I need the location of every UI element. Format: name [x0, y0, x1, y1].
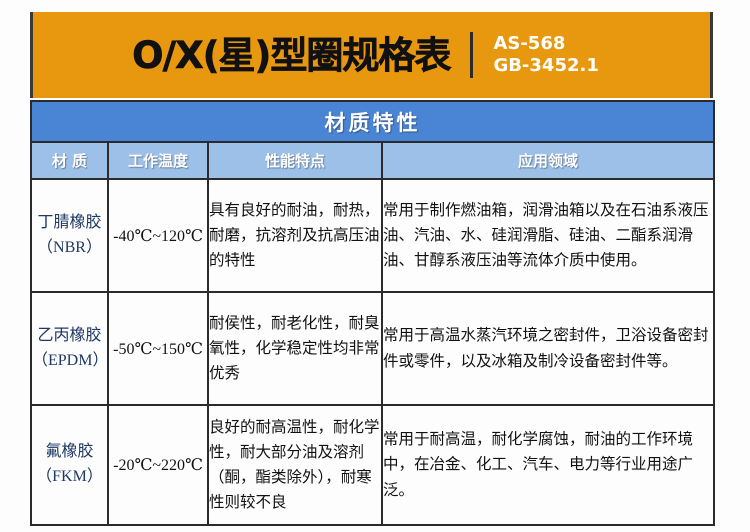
table-section-header-row: 材质特性 — [31, 101, 714, 142]
column-header-performance: 性能特点 — [208, 142, 382, 179]
title-banner-content: O/X(星)型圈规格表 AS-568 GB-3452.1 — [132, 32, 599, 78]
cell-temperature: -50℃~150℃ — [108, 292, 208, 405]
material-name: 氟橡胶 — [45, 443, 93, 460]
material-abbr: （EPDM） — [32, 349, 107, 374]
cell-application: 常用于高温水蒸汽环境之密封件，卫浴设备密封件或零件，以及冰箱及制冷设备密封件等。 — [382, 292, 714, 405]
table-row: 氟橡胶 （FKM） -20℃~220℃ 良好的耐高温性，耐化学性，耐大部分油及溶… — [31, 405, 714, 525]
page-title: O/X(星)型圈规格表 — [132, 37, 450, 74]
cell-material: 丁腈橡胶 （NBR） — [31, 179, 108, 292]
cell-material: 氟橡胶 （FKM） — [31, 405, 108, 525]
column-header-material: 材 质 — [31, 142, 108, 179]
cell-application: 常用于制作燃油箱，润滑油箱以及在石油系液压油、汽油、水、硅润滑脂、硅油、二酯系润… — [382, 179, 714, 292]
material-name: 丁腈橡胶 — [37, 214, 101, 231]
material-properties-table: 材质特性 材 质 工作温度 性能特点 应用领域 丁腈橡胶 （NBR） -40℃~… — [30, 100, 715, 526]
cell-material: 乙丙橡胶 （EPDM） — [31, 292, 108, 405]
standards-block: AS-568 GB-3452.1 — [493, 34, 598, 76]
cell-temperature: -20℃~220℃ — [108, 405, 208, 525]
spec-sheet-page: O/X(星)型圈规格表 AS-568 GB-3452.1 材质特性 材 质 — [0, 0, 750, 532]
title-divider — [470, 32, 473, 78]
cell-performance: 良好的耐高温性，耐化学性，耐大部分油及溶剂（酮，酯类除外），耐寒性则较不良 — [208, 405, 382, 525]
section-title: 材质特性 — [31, 101, 714, 142]
cell-performance: 具有良好的耐油，耐热，耐磨，抗溶剂及抗高压油的特性 — [208, 179, 382, 292]
material-abbr: （FKM） — [32, 465, 107, 490]
column-header-application: 应用领域 — [382, 142, 714, 179]
table-column-header-row: 材 质 工作温度 性能特点 应用领域 — [31, 142, 714, 179]
column-header-temperature: 工作温度 — [108, 142, 208, 179]
material-name: 乙丙橡胶 — [37, 327, 101, 344]
material-abbr: （NBR） — [32, 236, 107, 261]
standard-as-568: AS-568 — [493, 34, 598, 54]
material-properties-table-wrapper: 材质特性 材 质 工作温度 性能特点 应用领域 丁腈橡胶 （NBR） -40℃~… — [30, 100, 713, 526]
cell-application: 常用于耐高温，耐化学腐蚀，耐油的工作环境中，在冶金、化工、汽车、电力等行业用途广… — [382, 405, 714, 525]
table-row: 乙丙橡胶 （EPDM） -50℃~150℃ 耐侯性，耐老化性，耐臭氧性，化学稳定… — [31, 292, 714, 405]
standard-gb-3452: GB-3452.1 — [493, 56, 598, 76]
table-row: 丁腈橡胶 （NBR） -40℃~120℃ 具有良好的耐油，耐热，耐磨，抗溶剂及抗… — [31, 179, 714, 292]
cell-performance: 耐侯性，耐老化性，耐臭氧性，化学稳定性均非常优秀 — [208, 292, 382, 405]
title-banner: O/X(星)型圈规格表 AS-568 GB-3452.1 — [30, 12, 713, 98]
cell-temperature: -40℃~120℃ — [108, 179, 208, 292]
